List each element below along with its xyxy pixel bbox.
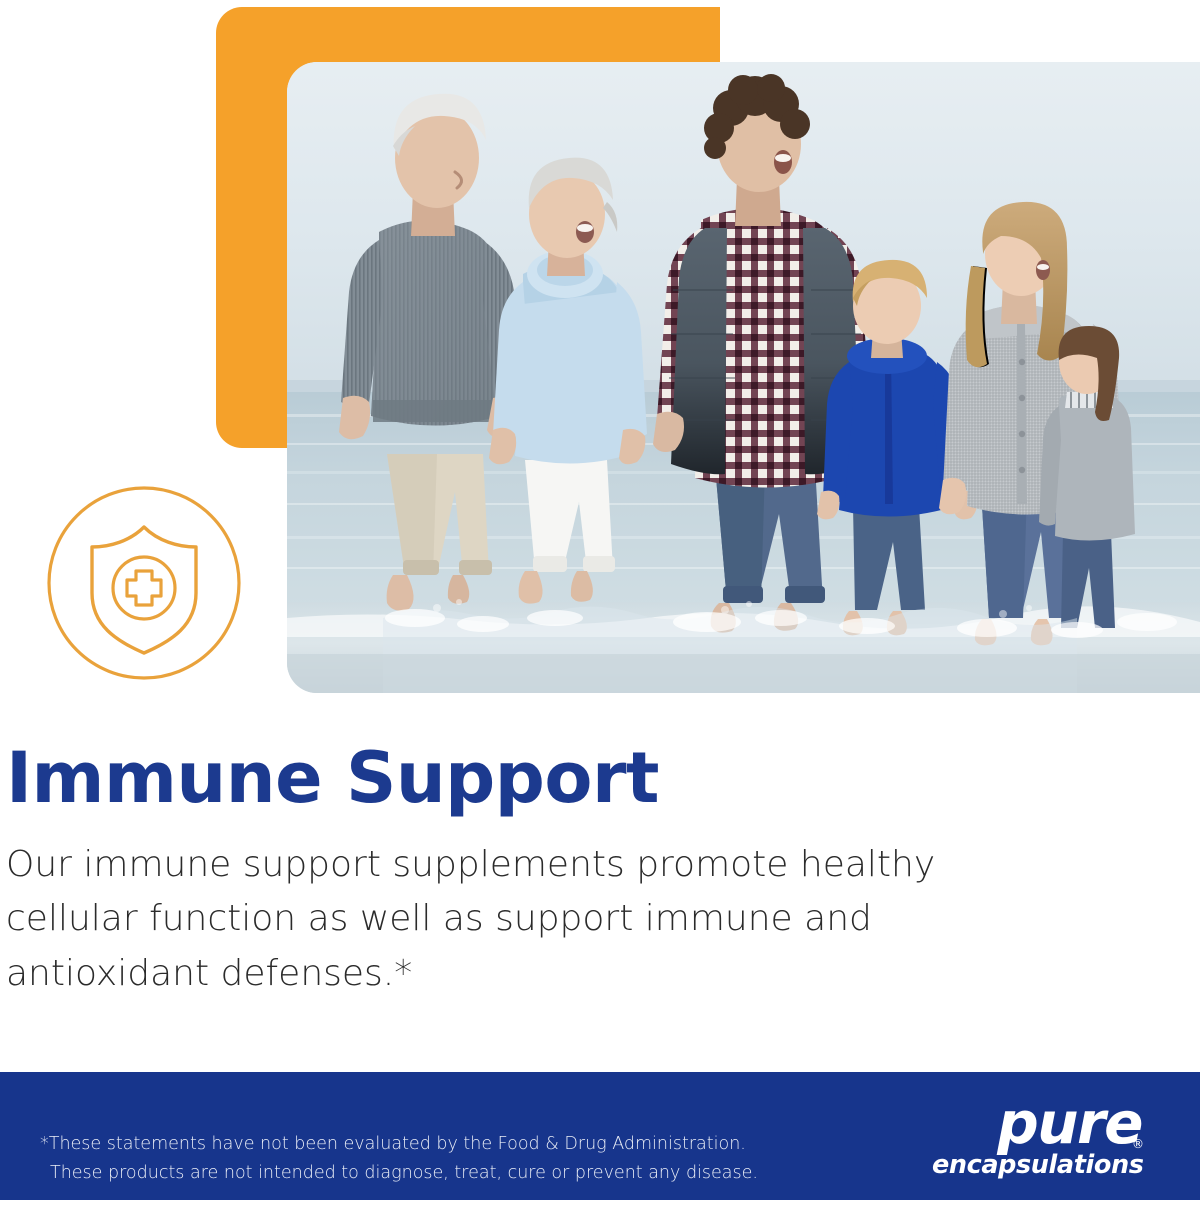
disclaimer-line-2: These products are not intended to diagn…: [40, 1159, 758, 1187]
hero-section: [0, 0, 1200, 700]
content-section: Immune Support Our immune support supple…: [6, 742, 1106, 1002]
body-copy: Our immune support supplements promote h…: [6, 838, 1066, 1002]
fda-disclaimer: *These statements have not been evaluate…: [40, 1102, 758, 1215]
brand-subtitle: encapsulations: [932, 1153, 1144, 1179]
footer-bar: *These statements have not been evaluate…: [0, 1072, 1200, 1200]
page-title: Immune Support: [6, 742, 1106, 816]
disclaimer-line-1: *These statements have not been evaluate…: [40, 1134, 746, 1154]
brand-name: pure: [932, 1096, 1142, 1152]
family-beach-photo: [287, 62, 1200, 693]
shield-health-icon: [44, 483, 244, 683]
registered-trademark-icon: ®: [1132, 1137, 1144, 1151]
brand-subtitle-wrap: encapsulations ®: [932, 1153, 1142, 1179]
pure-encapsulations-logo: pure encapsulations ®: [932, 1096, 1142, 1182]
